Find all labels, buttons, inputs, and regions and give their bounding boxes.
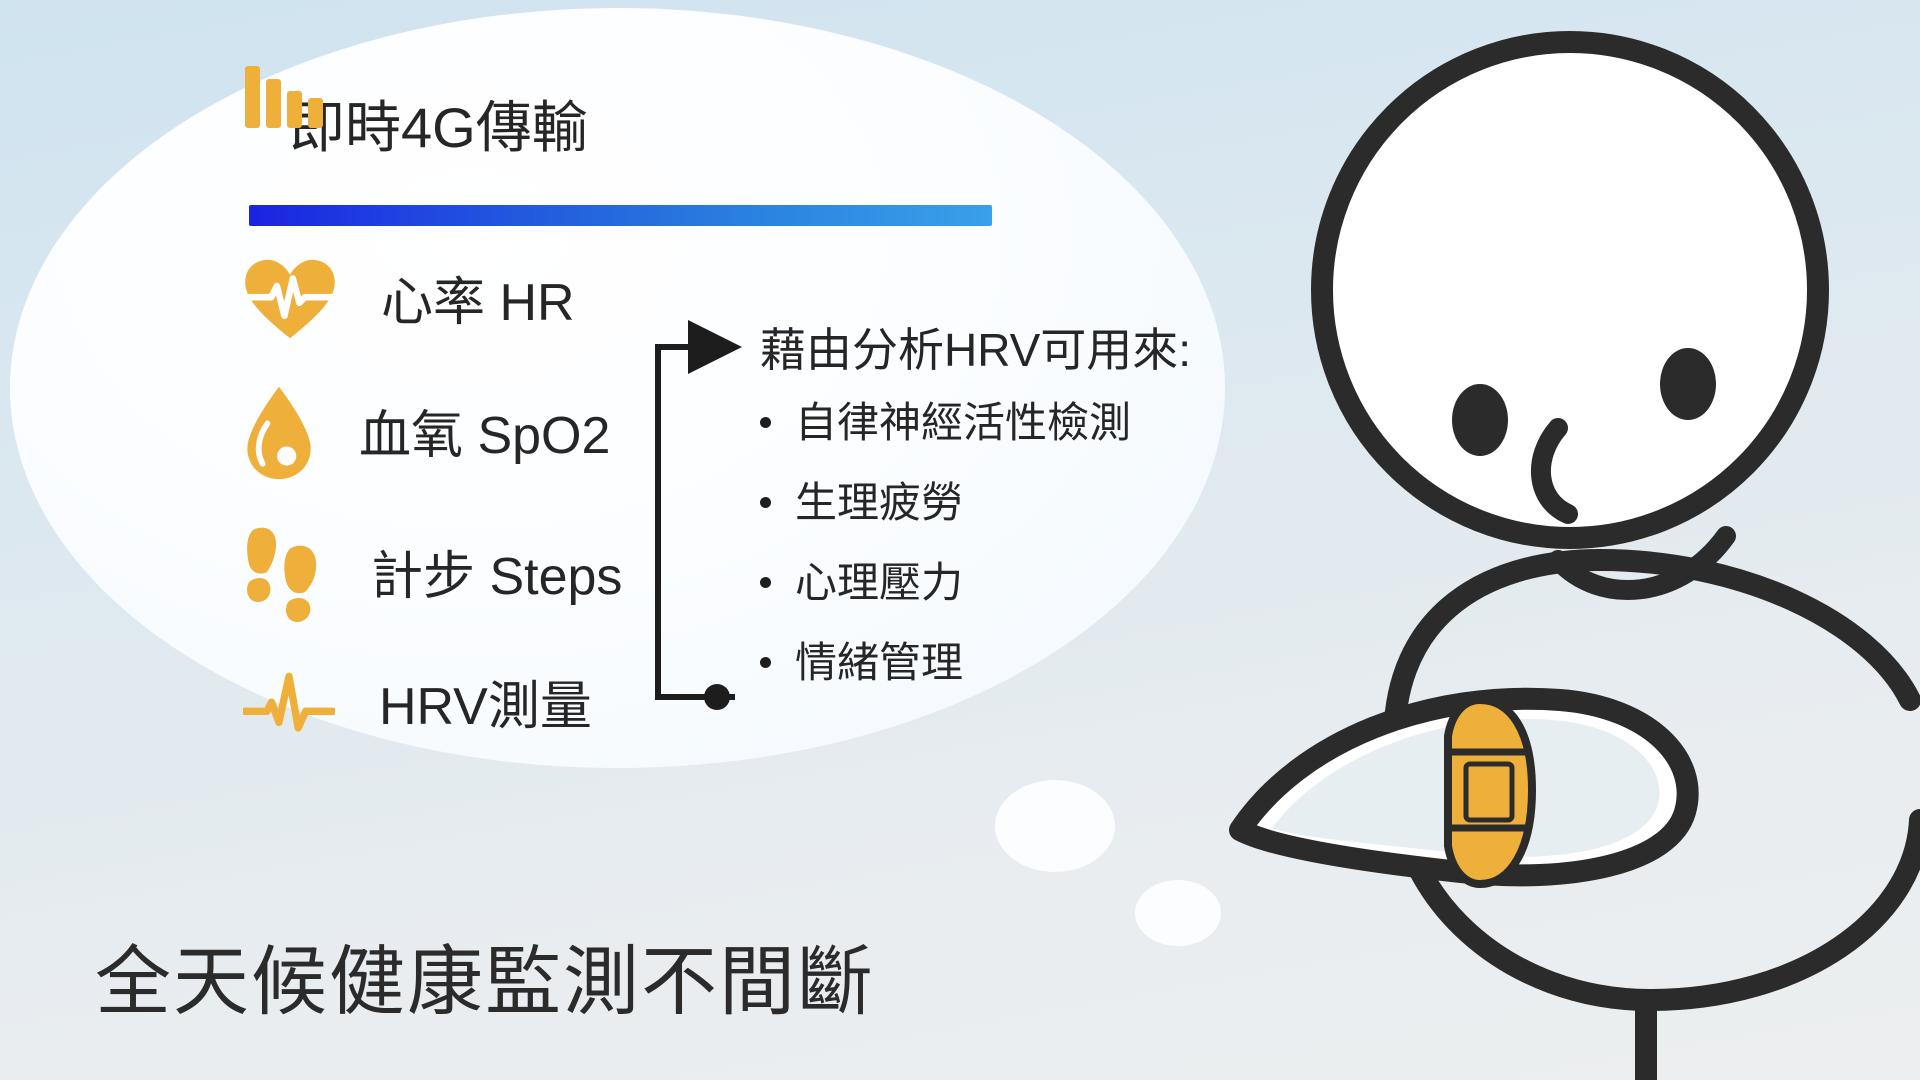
thought-bubble-dot-large xyxy=(995,780,1115,872)
bullet-dot-icon xyxy=(760,497,771,508)
feature-row-hrv: HRV測量 xyxy=(243,668,592,745)
list-item: 自律神經活性檢測 xyxy=(760,402,1180,444)
feature-label-steps: 計步 Steps xyxy=(371,551,622,603)
feature-label-heart-rate: 心率 HR xyxy=(381,277,575,329)
ecg-wave-icon xyxy=(243,668,335,745)
feature-row-heart-rate: 心率 HR xyxy=(243,258,575,347)
hrv-connector-arrow xyxy=(600,320,750,720)
list-item: 心理壓力 xyxy=(760,562,1180,604)
list-item: 情緒管理 xyxy=(760,642,1180,684)
bullet-dot-icon xyxy=(760,657,771,668)
list-item-label: 自律神經活性檢測 xyxy=(795,402,1131,444)
feature-label-hrv: HRV測量 xyxy=(379,681,592,733)
page-title: 全天候健康監測不間斷 xyxy=(95,920,875,1030)
footsteps-icon xyxy=(243,524,327,629)
feature-label-4g: 即時4G傳輸 xyxy=(289,100,588,156)
connector-node-dot xyxy=(704,684,730,710)
list-item-label: 心理壓力 xyxy=(795,562,963,604)
blood-drop-icon xyxy=(243,385,315,486)
list-item: 生理疲勞 xyxy=(760,482,1180,524)
hrv-panel-heading: 藉由分析HRV可用來: xyxy=(760,325,1180,376)
feature-label-spo2: 血氧 SpO2 xyxy=(359,410,610,462)
bullet-dot-icon xyxy=(760,577,771,588)
left-eye xyxy=(1452,384,1508,456)
hrv-analysis-panel: 藉由分析HRV可用來: 自律神經活性檢測 生理疲勞 心理壓力 情緒管理 xyxy=(760,325,1180,722)
feature-row-4g: 即時4G傳輸 xyxy=(243,100,588,156)
cartoon-person-illustration xyxy=(1180,0,1920,1080)
list-item-label: 生理疲勞 xyxy=(795,482,963,524)
heart-pulse-icon xyxy=(243,258,337,347)
smartwatch xyxy=(1448,700,1532,884)
feature-row-spo2: 血氧 SpO2 xyxy=(243,385,610,486)
hrv-benefit-list: 自律神經活性檢測 生理疲勞 心理壓力 情緒管理 xyxy=(760,402,1180,684)
watch-face xyxy=(1466,764,1512,820)
feature-row-steps: 計步 Steps xyxy=(243,524,622,629)
character-head xyxy=(1322,42,1818,538)
bullet-dot-icon xyxy=(760,417,771,428)
list-item-label: 情緒管理 xyxy=(795,642,963,684)
divider-gradient-rule xyxy=(249,205,992,226)
right-eye xyxy=(1660,348,1716,420)
